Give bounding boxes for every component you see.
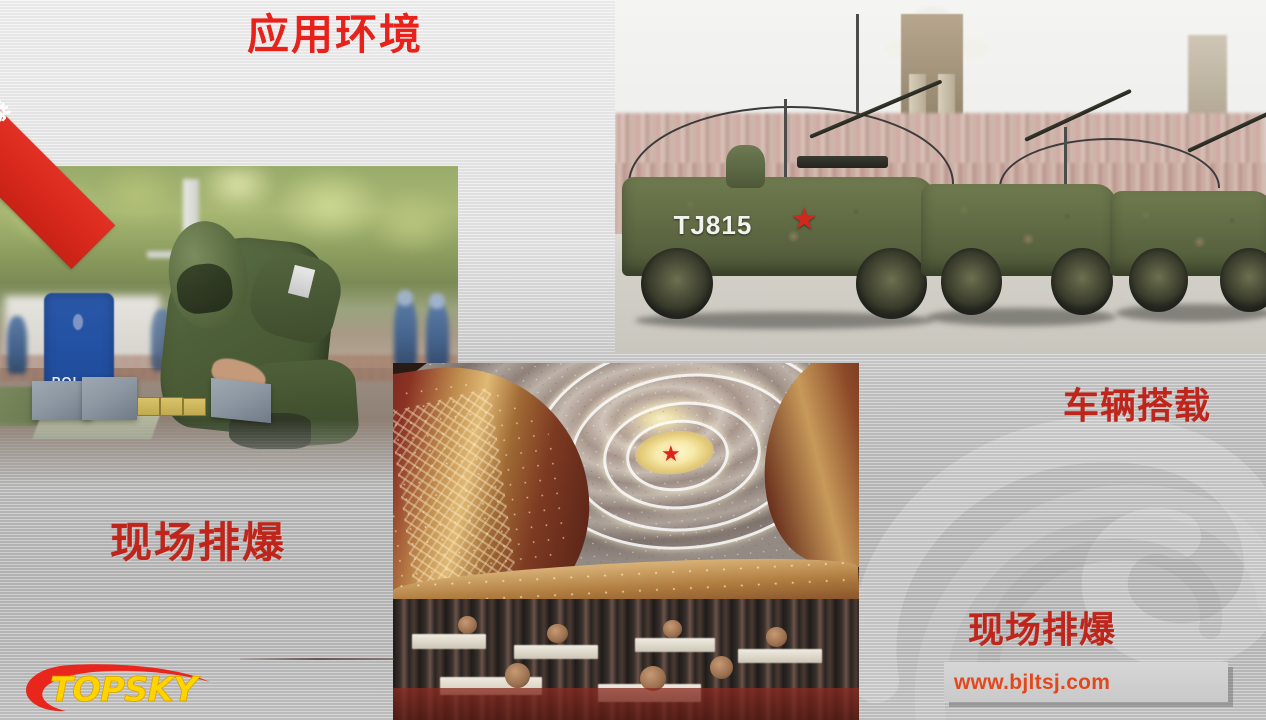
antenna-whip [1064,127,1067,191]
ammo-box [160,397,183,417]
vehicle-plate-number: TJ815 [674,212,753,238]
photo-officer [7,316,28,375]
delegate-desk [514,645,598,659]
antenna-whip [784,99,787,188]
photo-officer-helmet [429,293,445,309]
vehicle-shadow [635,312,934,330]
presentation-slide: POLICE [0,0,1266,720]
caption-vehicle-mounted: 车辆搭载 [1063,388,1211,424]
photo-officer [426,303,449,368]
delegate-head [547,624,568,644]
vehicle-wheel [1051,248,1113,315]
hall-carpet [393,688,859,720]
vehicle-wheel [856,248,928,319]
vehicle-wheel [641,248,713,319]
great-hall-interior-photo: ★ [393,363,859,720]
photo-officer-helmet [397,290,413,306]
caption-on-site-disposal-left: 现场排爆 [110,522,286,564]
website-url-text: www.bjltsj.com [944,672,1110,693]
footer-divider-line [240,658,394,660]
military-parade-photo: TJ815 ★ [615,0,1266,354]
delegate-head [766,627,787,647]
equipment-case [211,377,271,422]
vehicle-wheel [1129,248,1188,312]
slide-title: 应用环境 [247,14,423,56]
vehicle-wheel [941,248,1003,315]
topsky-logo: TOPSKY [14,656,230,714]
weapon-mount [797,156,888,168]
ammo-box [183,398,206,416]
vehicle-shadow [1116,304,1266,322]
equipment-case [82,377,137,419]
photo-officer [394,299,417,367]
ceiling-red-star-icon: ★ [661,443,681,465]
delegate-desk [738,649,822,663]
delegate-desk [635,638,714,652]
website-url-box[interactable]: www.bjltsj.com [944,662,1228,702]
delegate-head [710,656,733,679]
caption-on-site-disposal-right: 现场排爆 [968,612,1116,648]
soldier [726,145,765,187]
vehicle-shadow [927,308,1116,326]
svg-text:TOPSKY: TOPSKY [50,670,201,710]
delegate-desk [412,634,487,648]
delegate-head [505,663,531,688]
delegate-head [663,620,682,638]
ammo-box [137,397,160,417]
pla-star-icon: ★ [791,205,818,235]
vehicle-wheel [1220,248,1266,312]
